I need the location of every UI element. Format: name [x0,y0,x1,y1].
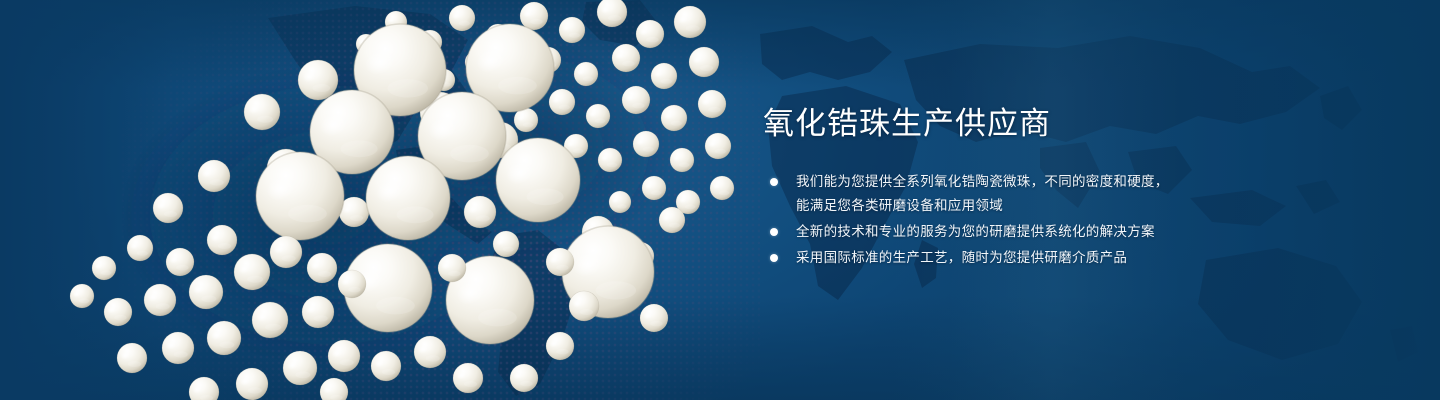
bullet-text-line2: 能满足您各类研磨设备和应用领域 [796,194,1363,218]
banner-headline: 氧化锆珠生产供应商 [763,104,1363,144]
feature-bullet-item: 采用国际标准的生产工艺，随时为您提供研磨介质产品 [763,246,1363,270]
banner-copy: 氧化锆珠生产供应商 我们能为您提供全系列氧化锆陶瓷微珠，不同的密度和硬度， 能满… [763,104,1363,272]
zirconia-beads-image [0,0,760,400]
bullet-dot-icon [770,228,778,236]
feature-bullet-list: 我们能为您提供全系列氧化锆陶瓷微珠，不同的密度和硬度， 能满足您各类研磨设备和应… [763,170,1363,270]
bullet-text-line1: 全新的技术和专业的服务为您的研磨提供系统化的解决方案 [796,224,1155,239]
hero-banner: 氧化锆珠生产供应商 我们能为您提供全系列氧化锆陶瓷微珠，不同的密度和硬度， 能满… [0,0,1440,400]
bullet-text-line1: 采用国际标准的生产工艺，随时为您提供研磨介质产品 [796,250,1127,265]
feature-bullet-item: 全新的技术和专业的服务为您的研磨提供系统化的解决方案 [763,220,1363,244]
bullet-dot-icon [770,178,778,186]
feature-bullet-item: 我们能为您提供全系列氧化锆陶瓷微珠，不同的密度和硬度， 能满足您各类研磨设备和应… [763,170,1363,218]
bullet-dot-icon [770,254,778,262]
bullet-text-line1: 我们能为您提供全系列氧化锆陶瓷微珠，不同的密度和硬度， [796,174,1169,189]
